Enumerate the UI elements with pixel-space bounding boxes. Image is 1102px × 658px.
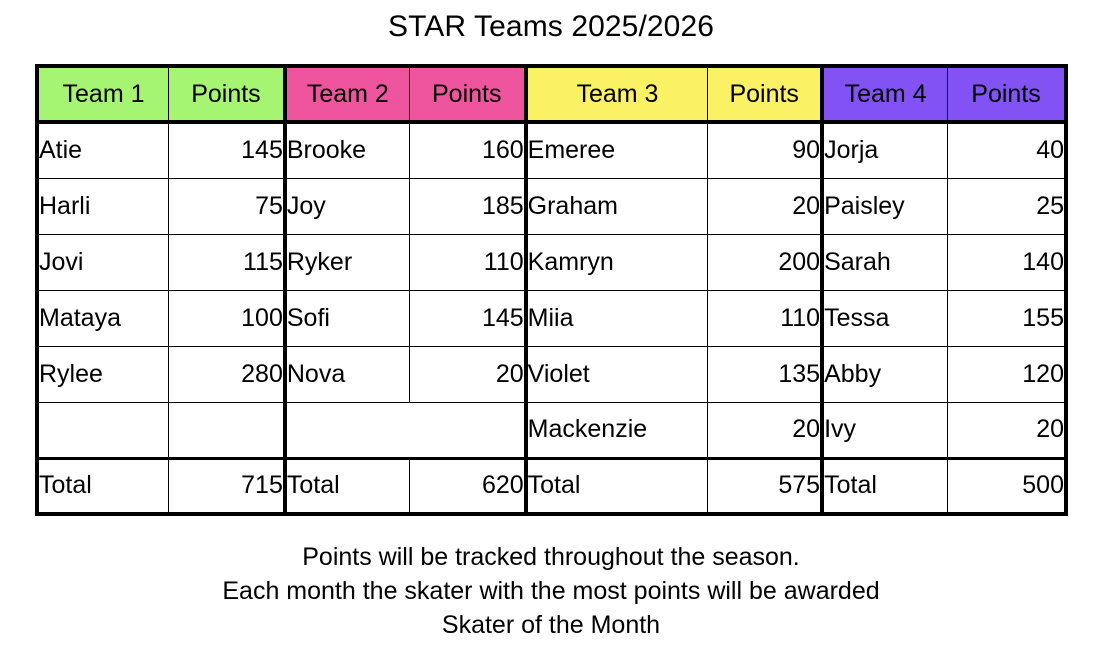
footer-line-3: Skater of the Month [0,608,1102,642]
footer-note: Points will be tracked throughout the se… [0,540,1102,642]
header-row: Team 1 Points Team 2 Points Team 3 Point… [37,66,1066,122]
cell-team3-pts: 135 [708,346,822,402]
cell-team3-name: Graham [526,178,708,234]
teams-table-container: Team 1 Points Team 2 Points Team 3 Point… [35,64,1068,516]
cell-team4-name: Ivy [822,402,947,458]
total-label-team1: Total [37,458,169,514]
cell-team3-pts: 200 [708,234,822,290]
cell-team2-pts: 160 [409,122,525,178]
cell-team3-name: Mackenzie [526,402,708,458]
star-teams-page: STAR Teams 2025/2026 Team 1 Points Team … [0,0,1102,658]
cell-team3-pts: 20 [708,402,822,458]
total-label-team3: Total [526,458,708,514]
total-value-team2: 620 [409,458,525,514]
cell-team4-pts: 40 [948,122,1066,178]
cell-team1-pts: 145 [169,122,285,178]
header-points-2: Points [409,66,525,122]
cell-team2-name: Ryker [285,234,409,290]
cell-team4-name: Tessa [822,290,947,346]
cell-team1-name: Harli [37,178,169,234]
table-body: Atie 145 Brooke 160 Emeree 90 Jorja 40 H… [37,122,1066,514]
teams-table: Team 1 Points Team 2 Points Team 3 Point… [35,64,1068,516]
total-label-team2: Total [285,458,409,514]
cell-team1-name: Jovi [37,234,169,290]
cell-team4-name: Jorja [822,122,947,178]
cell-team2-pts: 145 [409,290,525,346]
table-row: Mataya 100 Sofi 145 Miia 110 Tessa 155 [37,290,1066,346]
cell-team4-name: Sarah [822,234,947,290]
cell-team1-name: Atie [37,122,169,178]
cell-team1-name: Rylee [37,346,169,402]
cell-team2-pts: 110 [409,234,525,290]
total-value-team3: 575 [708,458,822,514]
cell-team1-name-empty [37,402,169,458]
cell-team1-pts: 100 [169,290,285,346]
table-header: Team 1 Points Team 2 Points Team 3 Point… [37,66,1066,122]
cell-team2-pts: 185 [409,178,525,234]
cell-team4-pts: 155 [948,290,1066,346]
cell-team4-name: Paisley [822,178,947,234]
cell-team4-pts: 120 [948,346,1066,402]
table-row-total: Total 715 Total 620 Total 575 Total 500 [37,458,1066,514]
total-value-team1: 715 [169,458,285,514]
cell-team4-name: Abby [822,346,947,402]
cell-team1-pts: 115 [169,234,285,290]
cell-team3-name: Emeree [526,122,708,178]
header-team-4: Team 4 [822,66,947,122]
cell-team3-pts: 20 [708,178,822,234]
cell-team2-name: Nova [285,346,409,402]
cell-team2-name: Brooke [285,122,409,178]
cell-team2-name: Sofi [285,290,409,346]
cell-team4-pts: 140 [948,234,1066,290]
header-points-3: Points [708,66,822,122]
cell-team3-name: Kamryn [526,234,708,290]
total-label-team4: Total [822,458,947,514]
header-team-3: Team 3 [526,66,708,122]
total-value-team4: 500 [948,458,1066,514]
cell-team2-pts: 20 [409,346,525,402]
cell-team3-pts: 110 [708,290,822,346]
header-points-4: Points [948,66,1066,122]
page-title: STAR Teams 2025/2026 [0,0,1102,42]
table-row-empty: Mackenzie 20 Ivy 20 [37,402,1066,458]
cell-team1-pts: 75 [169,178,285,234]
footer-line-1: Points will be tracked throughout the se… [0,540,1102,574]
header-team-1: Team 1 [37,66,169,122]
cell-team1-pts-empty [169,402,285,458]
table-row: Rylee 280 Nova 20 Violet 135 Abby 120 [37,346,1066,402]
cell-team4-pts: 20 [948,402,1066,458]
cell-team3-name: Violet [526,346,708,402]
cell-team4-pts: 25 [948,178,1066,234]
table-row: Harli 75 Joy 185 Graham 20 Paisley 25 [37,178,1066,234]
footer-line-2: Each month the skater with the most poin… [0,574,1102,608]
table-row: Jovi 115 Ryker 110 Kamryn 200 Sarah 140 [37,234,1066,290]
cell-team3-pts: 90 [708,122,822,178]
cell-team1-name: Mataya [37,290,169,346]
header-team-2: Team 2 [285,66,409,122]
cell-team3-name: Miia [526,290,708,346]
header-points-1: Points [169,66,285,122]
cell-team1-pts: 280 [169,346,285,402]
table-row: Atie 145 Brooke 160 Emeree 90 Jorja 40 [37,122,1066,178]
cell-team2-empty-merged [285,402,526,458]
cell-team2-name: Joy [285,178,409,234]
